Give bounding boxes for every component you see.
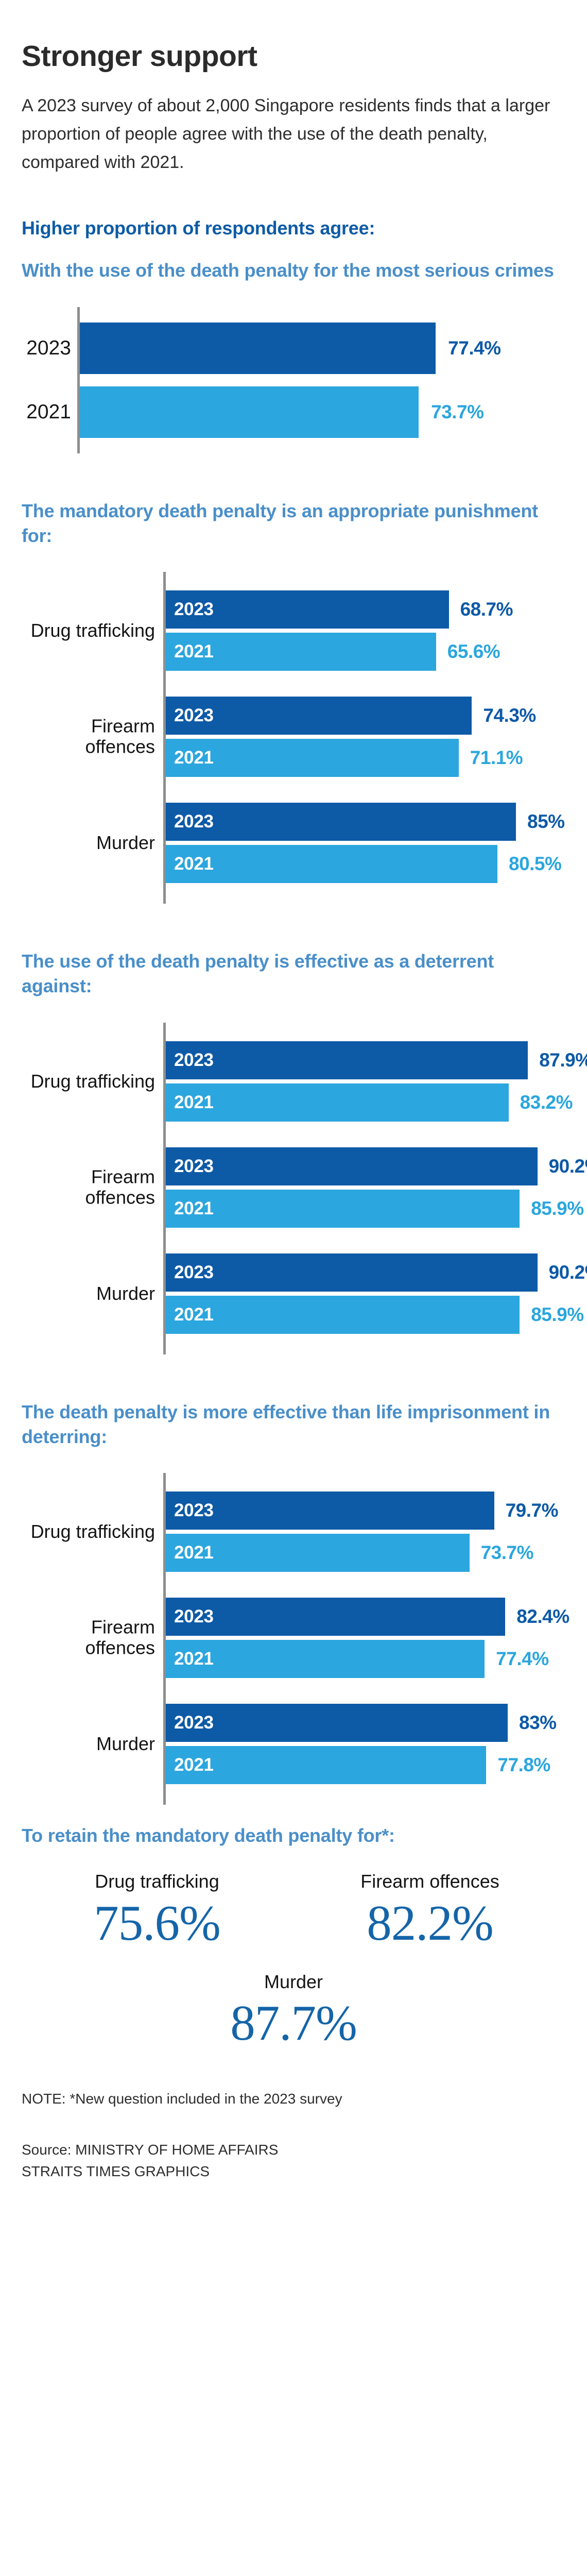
category-label: Murder bbox=[24, 1283, 155, 1303]
chart-bottom-padding bbox=[163, 1784, 565, 1805]
big-stat-label: Firearm offences bbox=[332, 1871, 528, 1892]
bar-value-label: 90.2% bbox=[549, 1156, 587, 1177]
big-number-row: Murder 87.7% bbox=[22, 1971, 565, 2052]
bar-group: Drug trafficking 2023 87.9% 2021 83.2% bbox=[163, 1041, 565, 1122]
source-line-2: STRAITS TIMES GRAPHICS bbox=[22, 2161, 565, 2182]
bar-year-label: 2021 bbox=[24, 402, 71, 422]
chart-top-padding bbox=[163, 1473, 565, 1492]
chart-section-4: Drug trafficking 2023 79.7% 2021 73.7% F… bbox=[22, 1473, 565, 1805]
bar-value-label: 77.8% bbox=[497, 1754, 550, 1776]
page-title: Stronger support bbox=[22, 20, 565, 72]
bar-group: Firearm offences 2023 82.4% 2021 77.4% bbox=[163, 1598, 565, 1678]
big-stat-murder: Murder 87.7% bbox=[196, 1971, 391, 2052]
source-block: Source: MINISTRY OF HOME AFFAIRS STRAITS… bbox=[22, 2139, 565, 2215]
bar-year-label: 2023 bbox=[24, 338, 71, 358]
big-stat-label: Murder bbox=[196, 1971, 391, 1993]
big-stat-value: 75.6% bbox=[59, 1895, 255, 1952]
bar-group: Drug trafficking 2023 68.7% 2021 65.6% bbox=[163, 590, 565, 671]
bar-year-label: 2023 bbox=[174, 1606, 214, 1627]
big-stat-value: 87.7% bbox=[196, 1995, 391, 2052]
note-text: NOTE: *New question included in the 2023… bbox=[22, 2091, 565, 2107]
bar-group: Firearm offences 2023 90.2% 2021 85.9% bbox=[163, 1147, 565, 1228]
bar-year-label: 2023 bbox=[174, 705, 214, 726]
bar-row: 2021 85.9% bbox=[166, 1296, 565, 1334]
bar-value-label: 90.2% bbox=[549, 1262, 587, 1283]
bar-year-label: 2021 bbox=[174, 1092, 214, 1113]
bar-value-label: 77.4% bbox=[496, 1648, 548, 1670]
category-label: Murder bbox=[24, 833, 155, 853]
bar-row: 2023 79.7% bbox=[166, 1492, 565, 1530]
bar-year-label: 2021 bbox=[174, 1649, 214, 1669]
bar-value-label: 82.4% bbox=[516, 1606, 569, 1628]
bar-year-label: 2023 bbox=[174, 1500, 214, 1521]
category-label: Drug trafficking bbox=[24, 1071, 155, 1091]
bar-row: 2023 87.9% bbox=[166, 1041, 565, 1079]
bar-value-label: 87.9% bbox=[539, 1049, 587, 1071]
bar-year-label: 2021 bbox=[174, 854, 214, 874]
section-heading-1: With the use of the death penalty for th… bbox=[22, 258, 557, 283]
big-stat-drug-trafficking: Drug trafficking 75.6% bbox=[59, 1871, 255, 1951]
bar-value-label: 68.7% bbox=[460, 599, 513, 620]
category-label: Firearm offences bbox=[24, 716, 155, 758]
bar-2021: 2021 bbox=[166, 1083, 509, 1122]
bar-year-label: 2023 bbox=[174, 599, 214, 620]
infographic-page: Stronger support A 2023 survey of about … bbox=[0, 20, 587, 2215]
bar-row: 2023 83% bbox=[166, 1704, 565, 1742]
section-heading-2: The mandatory death penalty is an approp… bbox=[22, 499, 557, 548]
bar-year-label: 2023 bbox=[174, 811, 214, 832]
bar-value-label: 77.4% bbox=[448, 337, 500, 359]
chart-bottom-padding bbox=[77, 438, 565, 453]
chart-bottom-padding bbox=[163, 883, 565, 904]
category-label: Drug trafficking bbox=[24, 1521, 155, 1542]
kicker-heading: Higher proportion of respondents agree: bbox=[22, 217, 565, 240]
bar-value-label: 71.1% bbox=[470, 747, 523, 769]
bar-2023: 2023 bbox=[166, 590, 449, 629]
chart-top-padding bbox=[163, 1023, 565, 1041]
big-stat-value: 82.2% bbox=[332, 1895, 528, 1952]
bar-row: 2021 80.5% bbox=[166, 845, 565, 883]
bar-year-label: 2023 bbox=[174, 1156, 214, 1177]
chart-section-3: Drug trafficking 2023 87.9% 2021 83.2% F… bbox=[22, 1023, 565, 1354]
bar-value-label: 79.7% bbox=[506, 1500, 558, 1521]
bar-2021 bbox=[80, 386, 419, 438]
bar-row: 2023 85% bbox=[166, 803, 565, 841]
bar-2021: 2021 bbox=[166, 1746, 486, 1784]
bar-row: 2021 77.8% bbox=[166, 1746, 565, 1784]
bar-row: 2021 65.6% bbox=[166, 633, 565, 671]
bar-2021: 2021 bbox=[166, 1640, 485, 1678]
bar-value-label: 83% bbox=[519, 1712, 557, 1734]
bar-2023: 2023 bbox=[166, 803, 516, 841]
bar-row: 2021 71.1% bbox=[166, 739, 565, 777]
section-heading-4: The death penalty is more effective than… bbox=[22, 1400, 557, 1449]
bar-row: 2023 90.2% bbox=[166, 1147, 565, 1185]
category-label: Murder bbox=[24, 1734, 155, 1754]
bar-2023: 2023 bbox=[166, 1147, 538, 1185]
bar-row: 2023 90.2% bbox=[166, 1253, 565, 1292]
bar-year-label: 2021 bbox=[174, 1755, 214, 1775]
bar-row: 2023 68.7% bbox=[166, 590, 565, 629]
big-stat-label: Drug trafficking bbox=[59, 1871, 255, 1892]
chart-top-padding bbox=[163, 572, 565, 590]
bar-value-label: 83.2% bbox=[520, 1092, 573, 1113]
bar-year-label: 2021 bbox=[174, 748, 214, 768]
bar-year-label: 2021 bbox=[174, 641, 214, 662]
chart-bottom-padding bbox=[163, 1334, 565, 1354]
bar-value-label: 85.9% bbox=[531, 1198, 583, 1219]
section-heading-3: The use of the death penalty is effectiv… bbox=[22, 949, 557, 998]
bar-2023: 2023 bbox=[166, 1598, 505, 1636]
chart-section-1: 2023 77.4% 2021 73.7% bbox=[22, 307, 565, 453]
bar-value-label: 65.6% bbox=[447, 641, 500, 663]
bar-2023 bbox=[80, 323, 436, 374]
bar-value-label: 73.7% bbox=[481, 1542, 533, 1564]
bar-group: Murder 2023 83% 2021 77.8% bbox=[163, 1704, 565, 1784]
bar-2023: 2023 bbox=[166, 1492, 494, 1530]
category-label: Drug trafficking bbox=[24, 620, 155, 641]
bar-2021: 2021 bbox=[166, 845, 497, 883]
bar-year-label: 2023 bbox=[174, 1262, 214, 1283]
bar-row: 2023 82.4% bbox=[166, 1598, 565, 1636]
bar-row: 2023 77.4% bbox=[77, 323, 565, 374]
bar-row: 2023 74.3% bbox=[166, 697, 565, 735]
bar-year-label: 2023 bbox=[174, 1713, 214, 1733]
bar-row: 2021 73.7% bbox=[77, 386, 565, 438]
bar-2023: 2023 bbox=[166, 1253, 538, 1292]
bar-group: Firearm offences 2023 74.3% 2021 71.1% bbox=[163, 697, 565, 777]
bar-2023: 2023 bbox=[166, 697, 472, 735]
category-label: Firearm offences bbox=[24, 1617, 155, 1659]
big-number-row: Drug trafficking 75.6% Firearm offences … bbox=[22, 1871, 565, 1951]
source-line-1: Source: MINISTRY OF HOME AFFAIRS bbox=[22, 2139, 565, 2161]
bar-value-label: 74.3% bbox=[483, 705, 536, 726]
bar-2023: 2023 bbox=[166, 1041, 528, 1079]
bar-value-label: 80.5% bbox=[509, 853, 561, 875]
bar-value-label: 73.7% bbox=[431, 401, 484, 423]
big-number-section: Drug trafficking 75.6% Firearm offences … bbox=[22, 1871, 565, 2052]
bar-row: 2021 73.7% bbox=[166, 1534, 565, 1572]
bar-2021: 2021 bbox=[166, 633, 436, 671]
bar-value-label: 85% bbox=[527, 811, 565, 833]
bar-value-label: 85.9% bbox=[531, 1304, 583, 1326]
standfirst-text: A 2023 survey of about 2,000 Singapore r… bbox=[22, 92, 552, 177]
bar-2021: 2021 bbox=[166, 1534, 470, 1572]
chart-section-2: Drug trafficking 2023 68.7% 2021 65.6% F… bbox=[22, 572, 565, 904]
big-stat-firearm-offences: Firearm offences 82.2% bbox=[332, 1871, 528, 1951]
bar-2021: 2021 bbox=[166, 739, 459, 777]
bar-group: Drug trafficking 2023 79.7% 2021 73.7% bbox=[163, 1492, 565, 1572]
bar-2023: 2023 bbox=[166, 1704, 508, 1742]
chart-top-padding bbox=[77, 307, 565, 323]
bar-year-label: 2023 bbox=[174, 1050, 214, 1071]
category-label: Firearm offences bbox=[24, 1166, 155, 1208]
bar-row: 2021 85.9% bbox=[166, 1190, 565, 1228]
bar-row: 2021 77.4% bbox=[166, 1640, 565, 1678]
bar-group: Murder 2023 85% 2021 80.5% bbox=[163, 803, 565, 883]
section-heading-retain: To retain the mandatory death penalty fo… bbox=[22, 1823, 557, 1848]
bar-2021: 2021 bbox=[166, 1190, 520, 1228]
bar-year-label: 2021 bbox=[174, 1543, 214, 1563]
bar-year-label: 2021 bbox=[174, 1198, 214, 1219]
bar-year-label: 2021 bbox=[174, 1304, 214, 1325]
bar-2021: 2021 bbox=[166, 1296, 520, 1334]
bar-group: Murder 2023 90.2% 2021 85.9% bbox=[163, 1253, 565, 1334]
bar-row: 2021 83.2% bbox=[166, 1083, 565, 1122]
